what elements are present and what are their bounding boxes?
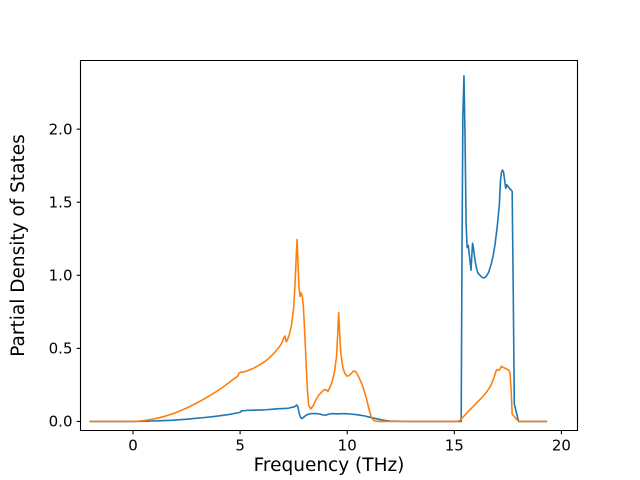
x-tick-label: 10: [338, 437, 357, 455]
x-tick-label: 0: [128, 437, 138, 455]
chart-plot: 051015200.00.51.01.52.0Frequency (THz)Pa…: [0, 0, 640, 480]
series-line-1: [90, 76, 546, 422]
figure-canvas: 051015200.00.51.01.52.0Frequency (THz)Pa…: [0, 0, 640, 480]
series-line-2: [90, 240, 546, 422]
data-series-group: [90, 76, 546, 422]
axes-group: [81, 61, 578, 431]
x-tick-label: 5: [235, 437, 245, 455]
y-tick-label: 0.0: [49, 413, 73, 431]
x-axis-title: Frequency (THz): [254, 455, 405, 476]
y-tick-label: 1.5: [49, 194, 73, 212]
x-tick-label: 20: [552, 437, 571, 455]
y-tick-label: 0.5: [49, 340, 73, 358]
y-tick-label: 1.0: [49, 267, 73, 285]
x-tick-label: 15: [445, 437, 464, 455]
y-tick-label: 2.0: [49, 120, 73, 138]
axis-labels-group: 051015200.00.51.01.52.0Frequency (THz)Pa…: [8, 120, 571, 476]
y-axis-title: Partial Density of States: [8, 134, 29, 357]
plot-frame: [81, 61, 578, 431]
